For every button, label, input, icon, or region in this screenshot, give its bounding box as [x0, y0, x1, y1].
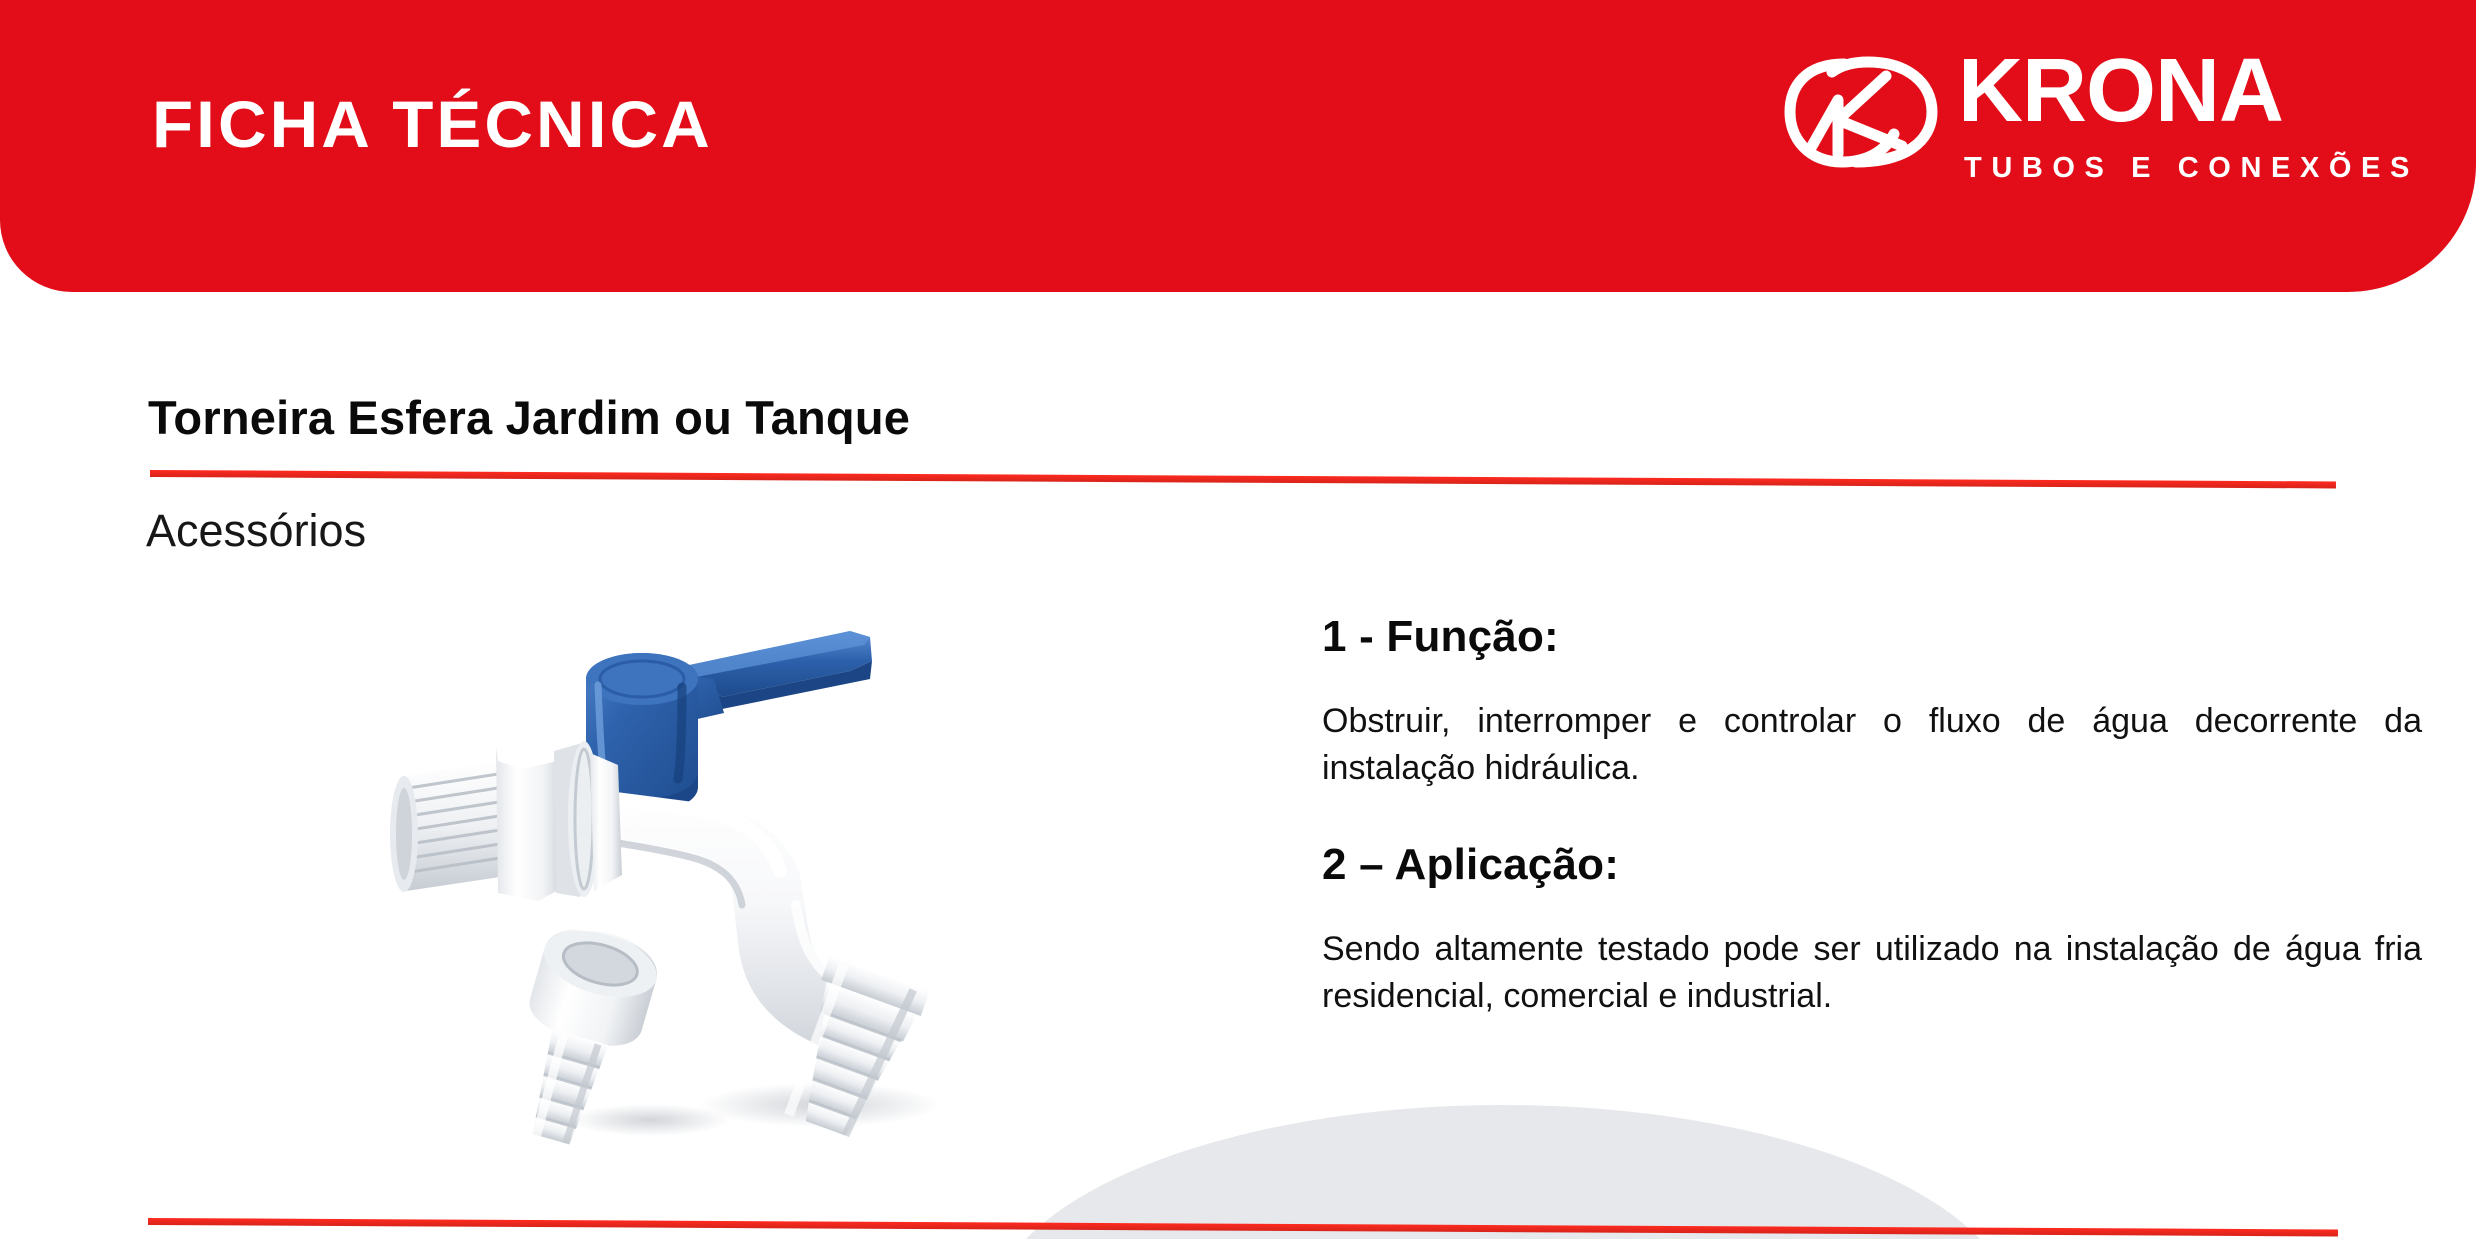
title-divider — [150, 470, 2336, 488]
product-category: Acessórios — [146, 505, 366, 557]
page-title: FICHA TÉCNICA — [152, 86, 713, 162]
header-banner: FICHA TÉCNICA KRONA TUBOS E CONEXÕES — [0, 0, 2476, 292]
product-name: Torneira Esfera Jardim ou Tanque — [148, 390, 910, 445]
krona-tagline: TUBOS E CONEXÕES — [1964, 152, 2419, 185]
section-body-funcao: Obstruir, interromper e controlar o flux… — [1322, 698, 2422, 792]
section-heading-aplicacao: 2 – Aplicação: — [1322, 840, 2422, 890]
krona-wordmark: KRONA — [1958, 46, 2283, 136]
krona-logo: KRONA TUBOS E CONEXÕES — [1782, 44, 2476, 194]
specs-column: 1 - Função: Obstruir, interromper e cont… — [1322, 612, 2422, 1020]
decorative-dome — [988, 1105, 2018, 1239]
section-body-aplicacao: Sendo altamente testado pode ser utiliza… — [1322, 926, 2422, 1020]
krona-k-emblem-icon — [1782, 50, 1958, 174]
section-heading-funcao: 1 - Função: — [1322, 612, 2422, 662]
product-image — [350, 575, 1070, 1155]
